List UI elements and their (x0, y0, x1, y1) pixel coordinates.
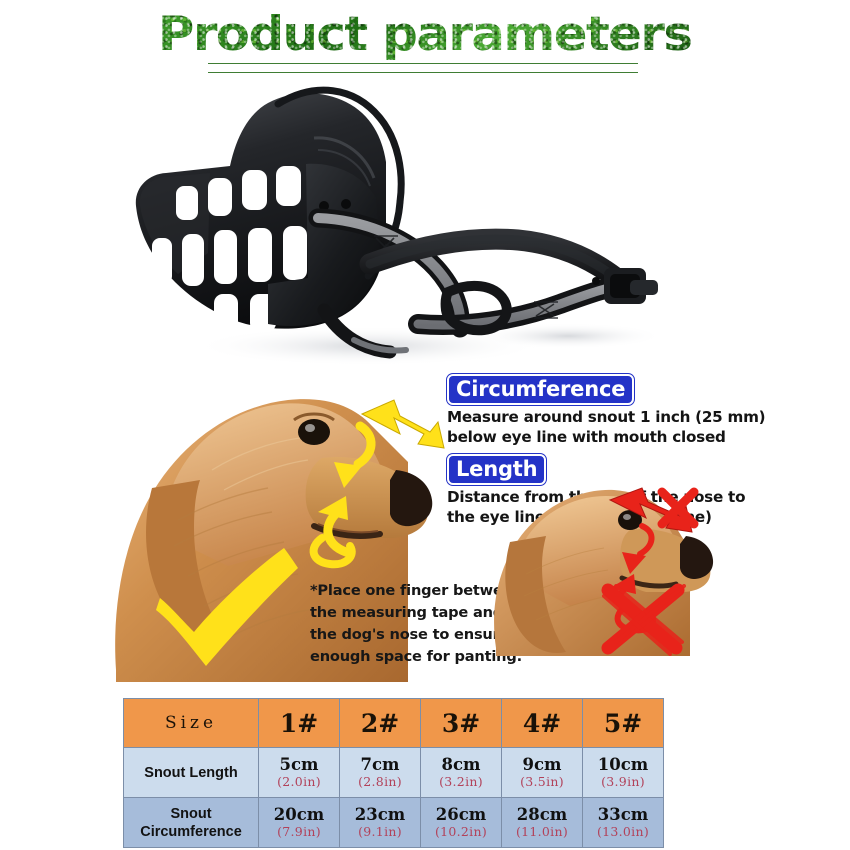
table-header-size-1: 1# (259, 699, 340, 748)
cell-snout-circumference-3: 26cm (10.2in) (421, 798, 502, 848)
row-label-snout-length: Snout Length (124, 748, 259, 798)
cell-snout-circumference-2: 23cm (9.1in) (340, 798, 421, 848)
text-spacer (447, 447, 777, 454)
circumference-description: Measure around snout 1 inch (25 mm) belo… (447, 408, 777, 447)
row-label-snout-circumference: Snout Circumference (124, 798, 259, 848)
size-chart-table: Size 1# 2# 3# 4# 5# Snout Length 5cm (2.… (123, 698, 664, 848)
cell-snout-length-5: 10cm (3.9in) (583, 748, 664, 798)
table-header-size-2: 2# (340, 699, 421, 748)
circumference-description-line-2: below eye line with mouth closed (447, 428, 777, 448)
dog-photo-incorrect-measurement (490, 478, 715, 656)
table-row-snout-circumference: Snout Circumference 20cm (7.9in) 23cm (9… (124, 798, 664, 848)
title-divider-line-2 (208, 72, 638, 73)
page-title: Product parameters (158, 10, 692, 60)
table-header-size-4: 4# (502, 699, 583, 748)
table-row-snout-length: Snout Length 5cm (2.0in) 7cm (2.8in) 8cm… (124, 748, 664, 798)
measurement-instructions-section: Circumference Measure around snout 1 inc… (0, 368, 850, 686)
table-header-size-5: 5# (583, 699, 664, 748)
cell-snout-length-3: 8cm (3.2in) (421, 748, 502, 798)
cell-snout-length-2: 7cm (2.8in) (340, 748, 421, 798)
table-header-row: Size 1# 2# 3# 4# 5# (124, 699, 664, 748)
cell-snout-circumference-5: 33cm (13.0in) (583, 798, 664, 848)
table-header-size-3: 3# (421, 699, 502, 748)
cell-snout-circumference-1: 20cm (7.9in) (259, 798, 340, 848)
title-divider-group (208, 63, 638, 73)
cell-snout-circumference-4: 28cm (11.0in) (502, 798, 583, 848)
circumference-block: Circumference Measure around snout 1 inc… (447, 374, 777, 447)
product-parameters-page: Product parameters (0, 0, 850, 850)
product-photo-muzzle (118, 78, 663, 370)
circumference-description-line-1: Measure around snout 1 inch (25 mm) (447, 408, 777, 428)
page-title-container: Product parameters (0, 10, 850, 60)
title-divider-line-1 (208, 63, 638, 64)
cell-snout-length-1: 5cm (2.0in) (259, 748, 340, 798)
circumference-badge: Circumference (447, 374, 634, 405)
table-header-size: Size (124, 699, 259, 748)
cell-snout-length-4: 9cm (3.5in) (502, 748, 583, 798)
